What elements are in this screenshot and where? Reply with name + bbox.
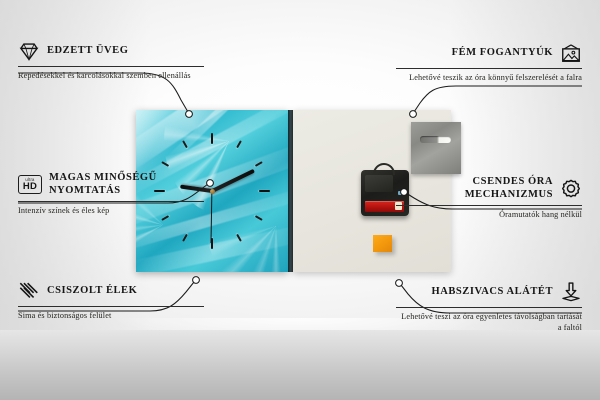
callout-title: MAGAS MINŐSÉGŰ NYOMTATÁS: [49, 172, 204, 197]
clock-tick: [211, 133, 213, 191]
foam-spacer-pad: [373, 235, 392, 252]
foam-pad-arrow-icon: [560, 281, 582, 303]
mechanism-face: [365, 175, 393, 192]
callout-title: CSENDES ÓRA MECHANIZMUS: [396, 176, 553, 201]
hanger-slot: [420, 136, 451, 143]
callout-header: EDZETT ÜVEG: [18, 40, 204, 62]
callout-title: CSISZOLT ÉLEK: [47, 285, 204, 298]
callout-header: FÉM FOGANTYÚK: [396, 42, 582, 64]
callout-magas-minosegu-nyomtatas[interactable]: ultra HD MAGAS MINŐSÉGŰ NYOMTATÁS Intenz…: [18, 172, 204, 217]
callout-divider: [18, 66, 204, 67]
metal-hanger-plate: [411, 122, 461, 174]
callout-description: Repedésekkel és karcolásokkal szemben el…: [18, 71, 204, 82]
callout-title: FÉM FOGANTYÚK: [396, 47, 553, 60]
callout-divider: [396, 68, 582, 69]
callout-header: HABSZIVACS ALÁTÉT: [396, 281, 582, 303]
polished-edges-icon: [18, 280, 40, 302]
wall-mount-icon: [560, 42, 582, 64]
infographic-stage: EDZETT ÜVEG Repedésekkel és karcolásokka…: [0, 0, 600, 400]
callout-header: CSISZOLT ÉLEK: [18, 280, 204, 302]
callout-header: ultra HD MAGAS MINŐSÉGŰ NYOMTATÁS: [18, 172, 204, 197]
callout-title: HABSZIVACS ALÁTÉT: [396, 286, 553, 299]
mechanism-hanging-loop: [373, 163, 395, 175]
diamond-icon: [18, 40, 40, 62]
callout-fem-fogantyuk[interactable]: FÉM FOGANTYÚK Lehetővé teszik az óra kön…: [396, 42, 582, 84]
callout-description: Óramutatók hang nélkül: [396, 210, 582, 221]
callout-header: CSENDES ÓRA MECHANIZMUS: [396, 176, 582, 201]
callout-divider: [396, 205, 582, 206]
callout-description: Lehetővé teszi az óra egyenletes távolsá…: [396, 312, 582, 333]
callout-divider: [18, 306, 204, 307]
callout-habszivacs-alatet[interactable]: HABSZIVACS ALÁTÉT Lehetővé teszi az óra …: [396, 281, 582, 333]
floor-surface: [0, 330, 600, 400]
callout-divider: [18, 201, 204, 202]
callout-description: Lehetővé teszik az óra könnyű felszerelé…: [396, 73, 582, 84]
clock-tick: [212, 190, 270, 192]
ultra-hd-icon-main: HD: [23, 182, 37, 192]
callout-description: Intenzív színek és éles kép: [18, 206, 204, 217]
callout-description: Sima és biztonságos felület: [18, 311, 204, 322]
callout-edzett-uveg[interactable]: EDZETT ÜVEG Repedésekkel és karcolásokka…: [18, 40, 204, 82]
gear-icon: [560, 178, 582, 200]
clock-center-cap: [210, 189, 215, 194]
ultra-hd-icon: ultra HD: [18, 175, 42, 194]
callout-divider: [396, 307, 582, 308]
callout-title: EDZETT ÜVEG: [47, 45, 204, 58]
callout-csiszolt-elek[interactable]: CSISZOLT ÉLEK Sima és biztonságos felüle…: [18, 280, 204, 322]
callout-csendes-ora-mechanizmus[interactable]: CSENDES ÓRA MECHANIZMUS Óramutatók hang …: [396, 176, 582, 221]
